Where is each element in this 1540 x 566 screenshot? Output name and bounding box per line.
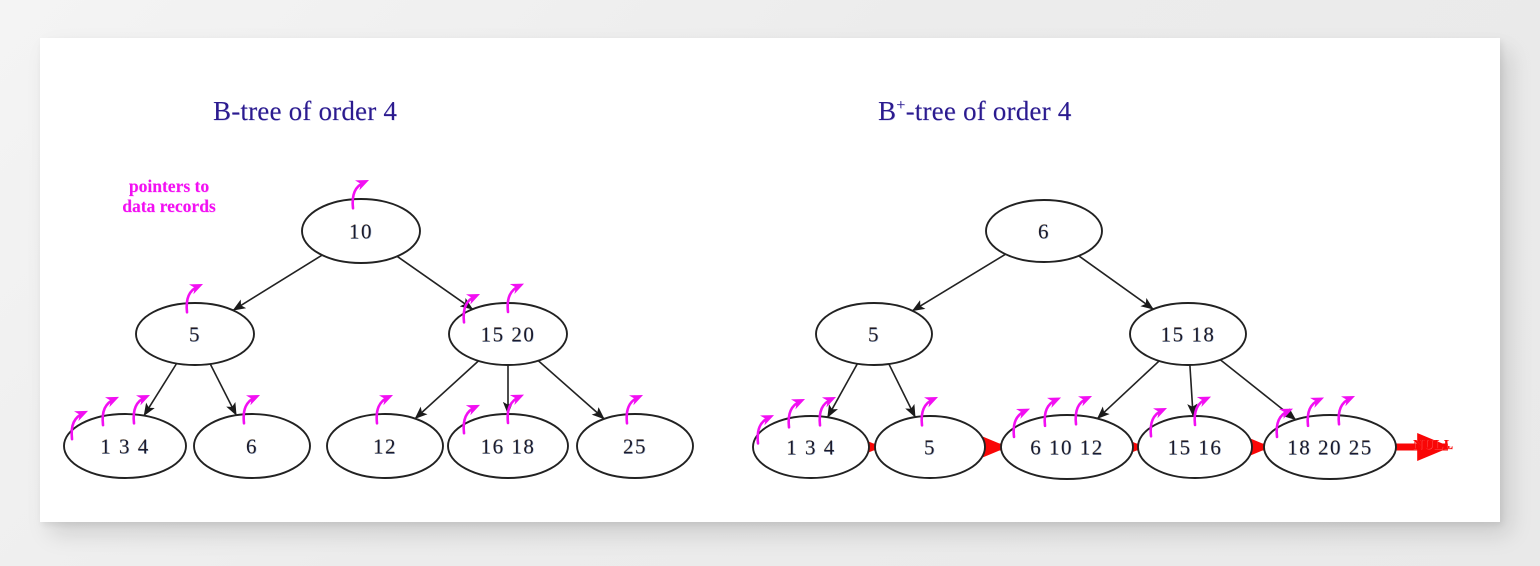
node-label-b-leaf-12: 12: [373, 435, 397, 460]
bplustree-title-superscript: +: [896, 96, 905, 114]
node-label-p-leaf-61012: 6 10 12: [1030, 436, 1104, 461]
bplustree-title: B+-tree of order 4: [878, 96, 1071, 127]
node-label-b-leaf-6: 6: [246, 435, 258, 460]
node-label-p-leaf-134: 1 3 4: [786, 436, 836, 461]
node-label-b-leaf-134: 1 3 4: [100, 435, 150, 460]
bplustree-title-suffix: -tree of order 4: [906, 96, 1072, 126]
node-label-p-int-1518: 15 18: [1161, 323, 1216, 348]
btree-title: B-tree of order 4: [213, 96, 397, 127]
node-label-b-leaf-1618: 16 18: [481, 435, 536, 460]
pointers-annotation: pointers to data records: [94, 176, 244, 216]
node-label-p-leaf-182025: 18 20 25: [1287, 436, 1373, 461]
node-label-b-int-1520: 15 20: [481, 323, 536, 348]
pointers-annotation-line2: data records: [94, 196, 244, 216]
node-label-p-leaf-1516: 15 16: [1168, 436, 1223, 461]
node-label-p-int-5: 5: [868, 323, 880, 348]
node-label-p-leaf-5: 5: [924, 436, 936, 461]
node-label-b-root-10: 10: [349, 220, 373, 245]
bplustree-title-prefix: B: [878, 96, 896, 126]
pointers-annotation-line1: pointers to: [94, 176, 244, 196]
null-terminator-label: NULL: [1413, 438, 1454, 454]
page-background: B-tree of order 4 B+-tree of order 4 poi…: [0, 0, 1540, 566]
node-label-b-int-5: 5: [189, 323, 201, 348]
node-label-p-root-6: 6: [1038, 220, 1050, 245]
node-label-b-leaf-25: 25: [623, 435, 647, 460]
